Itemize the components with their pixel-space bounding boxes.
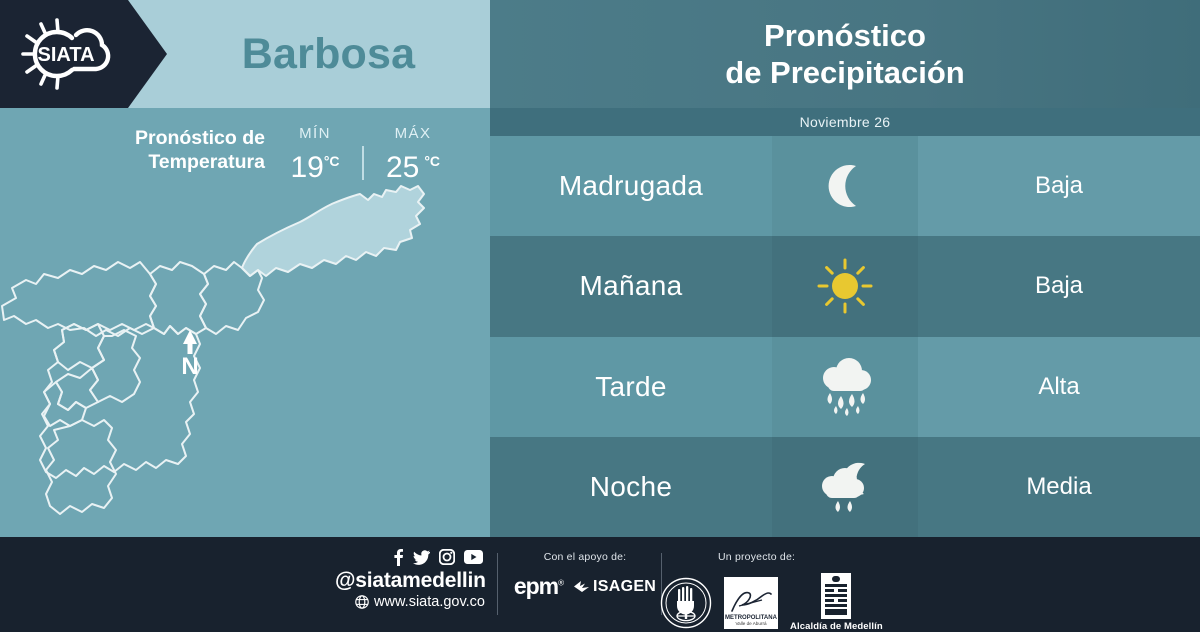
map-region-envigado (90, 330, 140, 402)
probability-label: Alta (918, 337, 1200, 437)
epm-logo[interactable]: epm® (514, 573, 563, 600)
weather-icon-cell (772, 337, 918, 437)
temperature-title: Pronóstico de Temperatura (60, 126, 265, 174)
temperature-max: MÁX 25°C (376, 124, 450, 185)
temperature-title-line1: Pronóstico de (135, 127, 265, 149)
precipitation-title: Pronóstico de Precipitación (725, 17, 964, 91)
alcaldia-text: Alcaldía de Medellín (790, 621, 883, 632)
logo-text: SIATA (37, 44, 94, 66)
temperature-min: MÍN 19°C (278, 124, 352, 185)
right-panel: Pronóstico de Precipitación Noviembre 26… (490, 0, 1200, 537)
map-region-barbosa (242, 186, 424, 276)
isagen-text: ISAGEN (593, 578, 656, 596)
isagen-logo[interactable]: ISAGEN (573, 578, 656, 596)
infographic-root: SIATA Barbosa Pronóstico de Temperatura … (0, 0, 1200, 630)
moon-icon (808, 155, 882, 217)
website-line[interactable]: www.siata.gov.co (335, 593, 485, 611)
city-title: Barbosa (167, 0, 490, 108)
social-block: @siatamedellin www.siata.gov.co (335, 547, 485, 611)
forecast-rows: Madrugada Baja Mañana (490, 136, 1200, 537)
precipitation-header: Pronóstico de Precipitación (490, 0, 1200, 108)
date-band: Noviembre 26 (490, 108, 1200, 136)
period-label: Noche (490, 437, 772, 537)
temperature-forecast-block: Pronóstico de Temperatura MÍN 19°C MÁX 2… (60, 124, 460, 186)
footer-divider-1 (497, 553, 498, 615)
weather-icon-cell (772, 437, 918, 537)
twitter-icon[interactable] (413, 550, 430, 565)
forecast-date: Noviembre 26 (800, 114, 891, 130)
map-region-bello (2, 262, 156, 336)
left-header-band: SIATA Barbosa (0, 0, 490, 108)
period-label: Tarde (490, 337, 772, 437)
footer: @siatamedellin www.siata.gov.co Con el a… (0, 537, 1200, 630)
support-label: Con el apoyo de: (500, 551, 670, 563)
project-label: Un proyecto de: (660, 551, 1010, 563)
map-svg: N (0, 178, 490, 537)
amva-script-icon (728, 587, 774, 615)
max-label: MÁX (376, 124, 450, 144)
support-logos: epm® ISAGEN (500, 573, 670, 600)
youtube-icon[interactable] (464, 550, 483, 564)
min-label: MÍN (278, 124, 352, 144)
aburra-valley-map[interactable]: N (0, 178, 490, 537)
map-region-laestrella (44, 382, 86, 426)
compass-north-icon: N (181, 330, 198, 380)
project-block: Un proyecto de: (660, 551, 1010, 632)
globe-icon (355, 595, 369, 609)
amva-sub: Valle de Aburrá (735, 621, 766, 626)
sun-icon (808, 255, 882, 317)
social-icons (335, 547, 485, 567)
left-panel: SIATA Barbosa Pronóstico de Temperatura … (0, 0, 490, 537)
alcaldia-mark-icon (821, 573, 851, 619)
alcaldia-logo[interactable]: Alcaldía de Medellín (790, 573, 883, 632)
social-handle[interactable]: @siatamedellin (335, 568, 485, 593)
precipitation-title-line2: de Precipitación (725, 55, 964, 90)
isagen-mark-icon (573, 579, 590, 594)
probability-label: Baja (918, 236, 1200, 336)
weather-icon-cell (772, 136, 918, 236)
support-block: Con el apoyo de: epm® ISAGEN (500, 551, 670, 600)
probability-label: Baja (918, 136, 1200, 236)
instagram-icon[interactable] (439, 549, 455, 565)
temperature-divider (362, 146, 364, 180)
sun-cloud-icon: SIATA (14, 14, 120, 94)
probability-label: Media (918, 437, 1200, 537)
temperature-title-line2: Temperatura (148, 151, 265, 173)
map-region-girardota (200, 262, 264, 334)
map-region-itagui (54, 324, 104, 370)
period-label: Mañana (490, 236, 772, 336)
forecast-row-tarde[interactable]: Tarde (490, 337, 1200, 437)
siata-logo-flag[interactable]: SIATA (0, 0, 167, 108)
compass-label: N (181, 353, 198, 380)
udea-seal-icon[interactable] (660, 577, 712, 629)
area-metropolitana-logo[interactable]: METROPOLITANA Valle de Aburrá (724, 577, 778, 629)
rain-cloud-icon (808, 356, 882, 418)
min-unit: °C (324, 153, 340, 169)
period-label: Madrugada (490, 136, 772, 236)
forecast-row-madrugada[interactable]: Madrugada Baja (490, 136, 1200, 236)
facebook-icon[interactable] (392, 548, 404, 566)
precipitation-title-line1: Pronóstico (764, 18, 926, 53)
project-logos: METROPOLITANA Valle de Aburrá (660, 573, 1010, 632)
temperature-values: MÍN 19°C MÁX 25°C (278, 124, 460, 184)
max-unit: °C (424, 153, 440, 169)
forecast-row-noche[interactable]: Noche Media (490, 437, 1200, 537)
website-url: www.siata.gov.co (374, 593, 485, 611)
forecast-row-manana[interactable]: Mañana (490, 236, 1200, 336)
map-region-copacabana (150, 262, 208, 334)
moon-cloud-rain-icon (808, 456, 882, 518)
epm-text: epm (514, 573, 558, 599)
weather-icon-cell (772, 236, 918, 336)
